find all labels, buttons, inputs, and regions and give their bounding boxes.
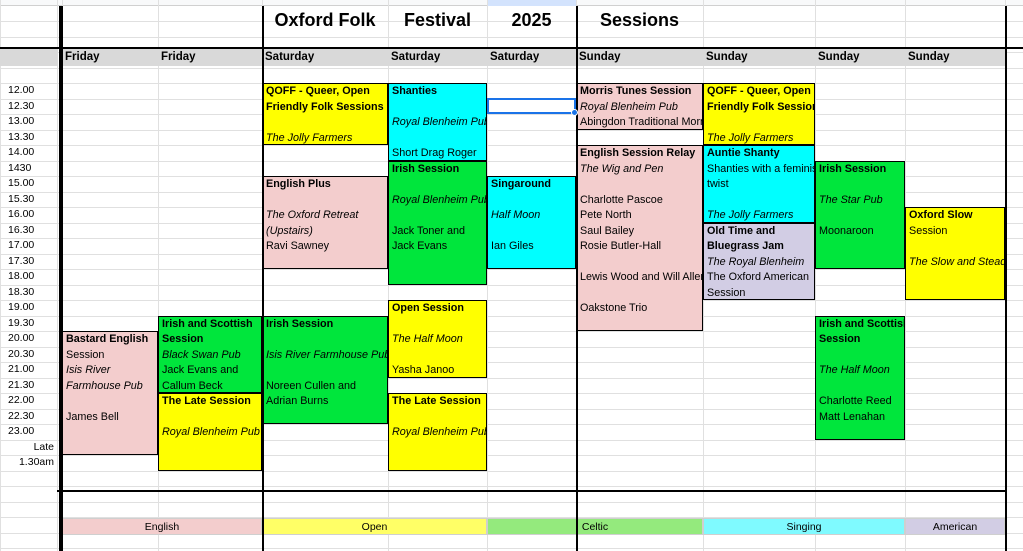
- event-line: Irish and Scottish: [819, 317, 904, 333]
- event-line: Yasha Janoo: [392, 363, 486, 378]
- event-line: Royal Blenheim Pub: [392, 193, 486, 209]
- day-header-saturday-3: Saturday: [262, 49, 388, 66]
- time-label: 21.00: [8, 362, 54, 378]
- title-part-3: 2025: [487, 5, 576, 35]
- day-header-sunday-8: Sunday: [815, 49, 905, 66]
- event-line: Friendly Folk Sessions: [266, 100, 387, 116]
- time-label: 1.30am: [8, 455, 54, 471]
- event-line: The Slow and Steady: [909, 255, 1004, 271]
- event-line: The Oxford American: [707, 270, 814, 286]
- event-line: Irish Session: [266, 317, 387, 333]
- selected-cell[interactable]: [487, 98, 576, 114]
- event-line: Irish Session: [392, 162, 486, 178]
- event-block[interactable]: Singaround Half Moon Ian Giles: [487, 176, 576, 269]
- title-part-2: Festival: [388, 5, 487, 35]
- event-block[interactable]: QOFF - Queer, OpenFriendly Folk Sessions…: [262, 83, 388, 145]
- time-label: 15.30: [8, 192, 54, 208]
- event-block[interactable]: Bastard EnglishSessionIsis RiverFarmhous…: [62, 331, 158, 455]
- event-line: Session: [909, 224, 1004, 240]
- event-block[interactable]: English Session RelayThe Wig and Pen Cha…: [576, 145, 703, 331]
- title-part-1: Oxford Folk: [262, 5, 388, 35]
- time-label: 20.00: [8, 331, 54, 347]
- event-block[interactable]: Irish Session Isis River Farmhouse Pub N…: [262, 316, 388, 425]
- event-line: Bastard English: [66, 332, 157, 348]
- time-label: 20.30: [8, 347, 54, 363]
- event-line: Bluegrass Jam: [707, 239, 814, 255]
- event-line: Royal Blenheim Pub: [392, 425, 486, 441]
- event-line: Adrian Burns: [266, 394, 387, 410]
- event-block[interactable]: Auntie ShantyShanties with a feministtwi…: [703, 145, 815, 223]
- event-line: Morris Tunes Session: [580, 84, 702, 100]
- time-label: 22.30: [8, 409, 54, 425]
- day-header-sunday-9: Sunday: [905, 49, 1005, 66]
- time-label: 23.00: [8, 424, 54, 440]
- legend-item-english: English: [62, 518, 262, 535]
- event-line: Noreen Cullen and: [266, 379, 387, 395]
- event-line: James Bell: [66, 410, 157, 426]
- event-block[interactable]: English Plus The Oxford Retreat(Upstairs…: [262, 176, 388, 269]
- event-line: Shanties with a feminist: [707, 162, 814, 178]
- day-header-friday-2: Friday: [158, 49, 262, 66]
- event-line: The Oxford Retreat: [266, 208, 387, 224]
- event-line: Callum Beck: [162, 379, 261, 394]
- time-label: 19.00: [8, 300, 54, 316]
- event-block[interactable]: Open Session The Half Moon Yasha Janoo: [388, 300, 487, 378]
- event-line: Session: [819, 332, 904, 348]
- event-line: Moonaroon: [819, 224, 904, 240]
- time-label: 12.00: [8, 83, 54, 99]
- event-line: Auntie Shanty: [707, 146, 814, 162]
- time-label: 13.30: [8, 130, 54, 146]
- time-label: 16.00: [8, 207, 54, 223]
- event-block[interactable]: Oxford SlowSession The Slow and Steady: [905, 207, 1005, 300]
- event-line: Isis River: [66, 363, 157, 379]
- event-line: Short Drag Roger: [392, 146, 486, 161]
- event-block[interactable]: Irish Session Royal Blenheim Pub Jack To…: [388, 161, 487, 285]
- event-line: Half Moon: [491, 208, 575, 224]
- event-line: Lewis Wood and Will Allen: [580, 270, 702, 286]
- event-block[interactable]: Shanties Royal Blenheim Pub Short Drag R…: [388, 83, 487, 161]
- event-line: Charlotte Pascoe: [580, 193, 702, 209]
- event-line: Jack Evans: [392, 239, 486, 255]
- event-line: Pete North: [580, 208, 702, 224]
- time-label: Late: [8, 440, 54, 456]
- event-line: Jack Evans and: [162, 363, 261, 379]
- event-line: Session: [707, 286, 814, 301]
- event-line: Friendly Folk Sessions: [707, 100, 814, 116]
- title-part-4: Sessions: [576, 5, 703, 35]
- event-block[interactable]: The Late Session Royal Blenheim Pub: [158, 393, 262, 471]
- event-line: The Half Moon: [819, 363, 904, 379]
- event-line: Farmhouse Pub: [66, 379, 157, 395]
- event-line: The Jolly Farmers: [707, 208, 814, 223]
- row-header-stub: [0, 49, 58, 66]
- event-line: Charlotte Reed: [819, 394, 904, 410]
- event-block[interactable]: Morris Tunes SessionRoyal Blenheim PubAb…: [576, 83, 703, 130]
- event-line: Old Time and: [707, 224, 814, 240]
- event-line: Session: [66, 348, 157, 364]
- event-line: The Royal Blenheim: [707, 255, 814, 271]
- time-label: 1430: [8, 161, 54, 177]
- event-line: Session: [162, 332, 261, 348]
- event-line: Ravi Sawney: [266, 239, 387, 255]
- event-line: Royal Blenheim Pub: [580, 100, 702, 116]
- event-block[interactable]: Old Time andBluegrass JamThe Royal Blenh…: [703, 223, 815, 301]
- legend-item-american: American: [905, 518, 1005, 535]
- legend-item-celtic: Celtic: [487, 518, 703, 535]
- event-block[interactable]: QOFF - Queer, OpenFriendly Folk Sessions…: [703, 83, 815, 145]
- time-label: 18.30: [8, 285, 54, 301]
- spreadsheet-canvas[interactable]: Oxford FolkFestival2025Sessions FridayFr…: [0, 0, 1023, 551]
- event-line: The Late Session: [162, 394, 261, 410]
- event-line: Shanties: [392, 84, 486, 100]
- time-label: 13.00: [8, 114, 54, 130]
- event-line: Oakstone Trio: [580, 301, 702, 317]
- day-header-saturday-5: Saturday: [487, 49, 576, 66]
- event-line: The Half Moon: [392, 332, 486, 348]
- event-line: Isis River Farmhouse Pub: [266, 348, 387, 364]
- time-label: 14.00: [8, 145, 54, 161]
- event-line: The Jolly Farmers: [266, 131, 387, 146]
- event-line: twist: [707, 177, 814, 193]
- legend-item-open: Open: [262, 518, 487, 535]
- event-line: QOFF - Queer, Open: [707, 84, 814, 100]
- event-block[interactable]: Irish Session The Star Pub Moonaroon: [815, 161, 905, 270]
- time-label: 18.00: [8, 269, 54, 285]
- event-line: English Session Relay: [580, 146, 702, 162]
- event-block[interactable]: Irish and ScottishSession The Half Moon …: [815, 316, 905, 440]
- event-block[interactable]: Irish and ScottishSessionBlack Swan PubJ…: [158, 316, 262, 394]
- time-label: 21.30: [8, 378, 54, 394]
- event-line: Open Session: [392, 301, 486, 317]
- time-label: 15.00: [8, 176, 54, 192]
- day-header-friday-1: Friday: [62, 49, 158, 66]
- event-line: Oxford Slow: [909, 208, 1004, 224]
- event-line: The Wig and Pen: [580, 162, 702, 178]
- event-line: Irish and Scottish: [162, 317, 261, 333]
- day-header-sunday-7: Sunday: [703, 49, 815, 66]
- time-label: 16.30: [8, 223, 54, 239]
- time-label: 12.30: [8, 99, 54, 115]
- event-line: The Jolly Farmers: [707, 131, 814, 146]
- event-line: (Upstairs): [266, 224, 387, 240]
- day-header-saturday-4: Saturday: [388, 49, 487, 66]
- event-line: QOFF - Queer, Open: [266, 84, 387, 100]
- event-line: Matt Lenahan: [819, 410, 904, 426]
- event-line: English Plus: [266, 177, 387, 193]
- time-label: 17.30: [8, 254, 54, 270]
- event-line: Black Swan Pub: [162, 348, 261, 364]
- day-header-sunday-6: Sunday: [576, 49, 703, 66]
- event-line: Jack Toner and: [392, 224, 486, 240]
- event-line: Abingdon Traditional Morris: [580, 115, 702, 130]
- event-line: Ian Giles: [491, 239, 575, 255]
- event-line: Royal Blenheim Pub: [392, 115, 486, 131]
- event-line: The Late Session: [392, 394, 486, 410]
- time-label: 22.00: [8, 393, 54, 409]
- legend-item-singing: Singing: [703, 518, 905, 535]
- event-block[interactable]: The Late Session Royal Blenheim Pub: [388, 393, 487, 471]
- event-line: Singaround: [491, 177, 575, 193]
- event-line: Irish Session: [819, 162, 904, 178]
- time-label: 19.30: [8, 316, 54, 332]
- time-label: 17.00: [8, 238, 54, 254]
- event-line: Rosie Butler-Hall: [580, 239, 702, 255]
- fill-handle[interactable]: [571, 109, 578, 116]
- event-line: Royal Blenheim Pub: [162, 425, 261, 441]
- event-line: The Star Pub: [819, 193, 904, 209]
- event-line: Saul Bailey: [580, 224, 702, 240]
